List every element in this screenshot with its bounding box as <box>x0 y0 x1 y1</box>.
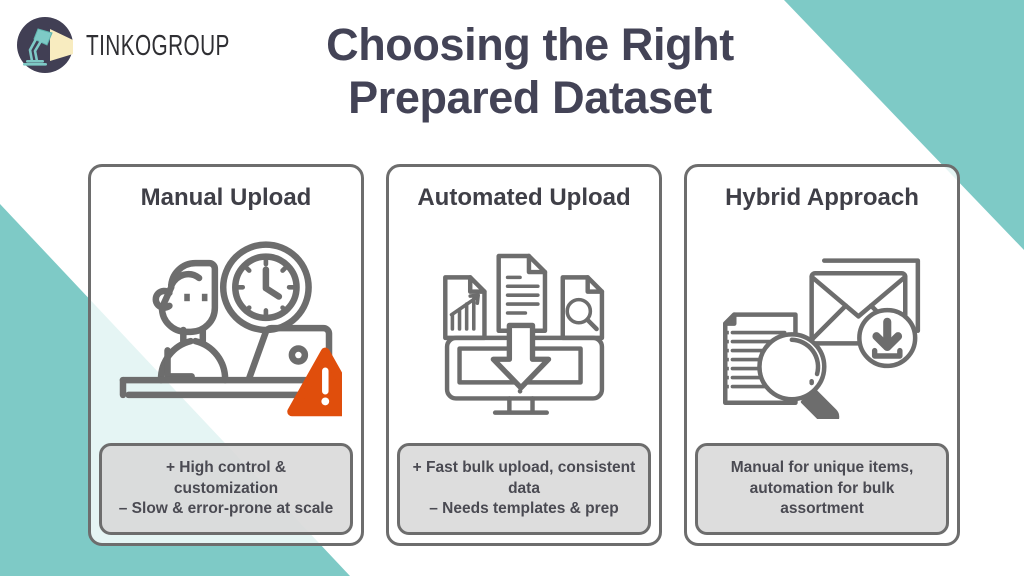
card-title: Hybrid Approach <box>725 185 919 211</box>
card-footer-manual-upload: + High control & customization – Slow & … <box>99 443 353 535</box>
footer-line: automation for bulk <box>704 479 940 500</box>
card-illustration-manual-upload <box>91 211 361 443</box>
slide-canvas: TINKOGROUP Choosing the Right Prepared D… <box>0 0 1024 576</box>
footer-line: + High control & <box>108 458 344 479</box>
brand-name: TINKOGROUP <box>86 28 230 63</box>
card-illustration-automated-upload <box>389 211 659 443</box>
card-footer-automated-upload: + Fast bulk upload, consistent data – Ne… <box>397 443 651 535</box>
footer-line: + Fast bulk upload, consistent <box>406 458 642 479</box>
footer-line: – Needs templates & prep <box>406 499 642 520</box>
footer-line: Manual for unique items, <box>704 458 940 479</box>
card-automated-upload[interactable]: Automated Upload <box>386 164 662 546</box>
desk-lamp-circle-logo-icon <box>14 14 76 76</box>
card-footer-hybrid-approach: Manual for unique items, automation for … <box>695 443 949 535</box>
brand-logo-block: TINKOGROUP <box>14 14 266 76</box>
card-manual-upload[interactable]: Manual Upload <box>88 164 364 546</box>
card-hybrid-approach[interactable]: Hybrid Approach <box>684 164 960 546</box>
card-title: Automated Upload <box>417 185 630 211</box>
comparison-cards: Manual Upload <box>88 164 960 546</box>
footer-line: data <box>406 479 642 500</box>
magnifier-handle-icon <box>803 390 838 419</box>
footer-line: customization <box>108 479 344 500</box>
page-title-line1: Choosing the Right <box>270 18 790 71</box>
page-title: Choosing the Right Prepared Dataset <box>270 18 790 124</box>
page-title-line2: Prepared Dataset <box>270 71 790 124</box>
download-arrow-icon <box>493 326 548 388</box>
card-title: Manual Upload <box>141 185 312 211</box>
card-illustration-hybrid-approach <box>687 211 957 443</box>
footer-line: – Slow & error-prone at scale <box>108 499 344 520</box>
footer-line: assortment <box>704 499 940 520</box>
